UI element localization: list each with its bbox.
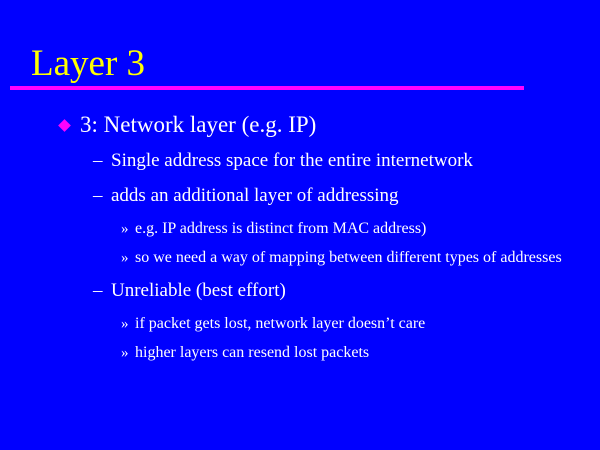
title-underline-rule xyxy=(10,86,524,90)
guillemet-bullet-icon: » xyxy=(121,246,135,270)
bullet-text: Single address space for the entire inte… xyxy=(111,147,473,174)
guillemet-bullet-icon: » xyxy=(121,217,135,241)
bullet-item-level2: – Unreliable (best effort) xyxy=(0,277,600,304)
bullet-text: e.g. IP address is distinct from MAC add… xyxy=(135,217,426,241)
bullet-item-level3: » higher layers can resend lost packets xyxy=(0,341,600,365)
guillemet-bullet-icon: » xyxy=(121,341,135,365)
bullet-item-level1: 3: Network layer (e.g. IP) xyxy=(0,110,600,140)
page-title: Layer 3 xyxy=(31,42,145,86)
bullet-item-level2: – adds an additional layer of addressing xyxy=(0,182,600,209)
bullet-item-level3: » e.g. IP address is distinct from MAC a… xyxy=(0,217,600,241)
presentation-slide: Layer 3 3: Network layer (e.g. IP) – Sin… xyxy=(0,0,600,450)
bullet-text: higher layers can resend lost packets xyxy=(135,341,369,365)
dash-bullet-icon: – xyxy=(93,147,111,174)
bullet-text: so we need a way of mapping between diff… xyxy=(135,246,562,270)
bullet-item-level3: » so we need a way of mapping between di… xyxy=(0,246,600,270)
diamond-bullet-icon xyxy=(60,110,80,140)
dash-bullet-icon: – xyxy=(93,277,111,304)
bullet-item-level3: » if packet gets lost, network layer doe… xyxy=(0,312,600,336)
bullet-text: adds an additional layer of addressing xyxy=(111,182,399,209)
guillemet-bullet-icon: » xyxy=(121,312,135,336)
bullet-item-level2: – Single address space for the entire in… xyxy=(0,147,600,174)
bullet-text: if packet gets lost, network layer doesn… xyxy=(135,312,425,336)
bullet-text: 3: Network layer (e.g. IP) xyxy=(80,110,316,140)
bullet-text: Unreliable (best effort) xyxy=(111,277,286,304)
slide-body-bullet-list: 3: Network layer (e.g. IP) – Single addr… xyxy=(0,110,600,366)
dash-bullet-icon: – xyxy=(93,182,111,209)
